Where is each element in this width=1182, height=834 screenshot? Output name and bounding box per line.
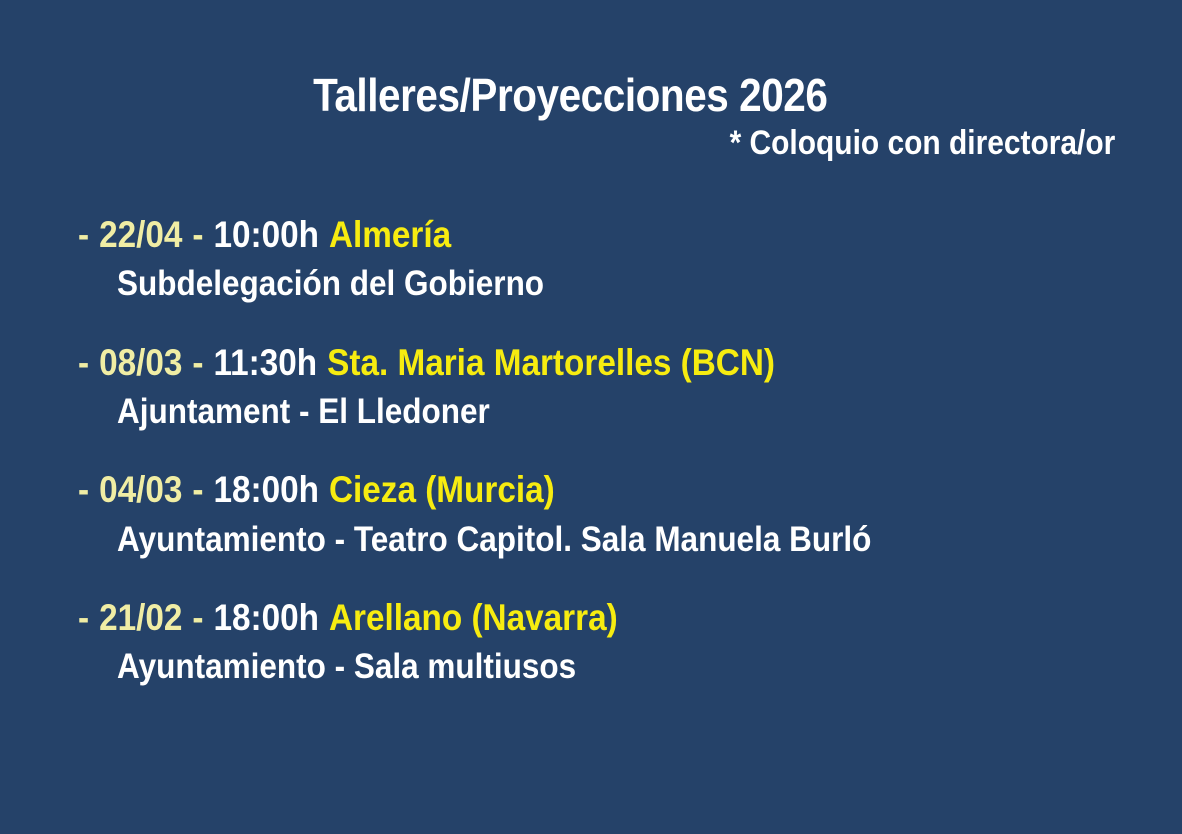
page-title: Talleres/Proyecciones 2026 bbox=[313, 71, 827, 119]
list-item: -21/02-18:00hArellano (Navarra) Ayuntami… bbox=[78, 597, 1138, 687]
event-venue: Ayuntamiento - Sala multiusos bbox=[117, 647, 1036, 686]
event-date: 21/02 bbox=[99, 597, 182, 638]
event-time: 11:30h bbox=[213, 342, 317, 383]
event-venue: Subdelegación del Gobierno bbox=[117, 264, 1036, 303]
event-bullet: - bbox=[78, 214, 89, 255]
event-city: Cieza (Murcia) bbox=[329, 469, 555, 510]
event-venue: Ayuntamiento - Teatro Capitol. Sala Manu… bbox=[117, 520, 1036, 559]
event-separator: - bbox=[192, 214, 203, 255]
event-time: 10:00h bbox=[213, 214, 319, 255]
event-date: 08/03 bbox=[99, 342, 182, 383]
event-city: Almería bbox=[329, 214, 451, 255]
event-time: 18:00h bbox=[213, 469, 319, 510]
event-headline: -22/04-10:00hAlmería bbox=[78, 214, 1032, 255]
list-item: -22/04-10:00hAlmería Subdelegación del G… bbox=[78, 214, 1138, 304]
list-item: -08/03-11:30hSta. Maria Martorelles (BCN… bbox=[78, 342, 1138, 432]
event-headline: -04/03-18:00hCieza (Murcia) bbox=[78, 469, 1032, 510]
list-item: -04/03-18:00hCieza (Murcia) Ayuntamiento… bbox=[78, 469, 1138, 559]
event-city: Arellano (Navarra) bbox=[329, 597, 618, 638]
event-separator: - bbox=[192, 469, 203, 510]
event-date: 22/04 bbox=[99, 214, 182, 255]
event-headline: -21/02-18:00hArellano (Navarra) bbox=[78, 597, 1032, 638]
event-venue: Ajuntament - El Lledoner bbox=[117, 392, 1036, 431]
note-row: * Coloquio con directora/or bbox=[0, 125, 1115, 162]
event-list: -22/04-10:00hAlmería Subdelegación del G… bbox=[78, 214, 1138, 687]
event-headline: -08/03-11:30hSta. Maria Martorelles (BCN… bbox=[78, 342, 1032, 383]
event-separator: - bbox=[192, 342, 203, 383]
colloquium-note: * Coloquio con directora/or bbox=[729, 125, 1115, 162]
event-bullet: - bbox=[78, 597, 89, 638]
event-date: 04/03 bbox=[99, 469, 182, 510]
event-time: 18:00h bbox=[213, 597, 319, 638]
poster-canvas: Talleres/Proyecciones 2026 * Coloquio co… bbox=[0, 0, 1182, 834]
event-bullet: - bbox=[78, 469, 89, 510]
event-separator: - bbox=[192, 597, 203, 638]
event-bullet: - bbox=[78, 342, 89, 383]
event-city: Sta. Maria Martorelles (BCN) bbox=[327, 342, 775, 383]
